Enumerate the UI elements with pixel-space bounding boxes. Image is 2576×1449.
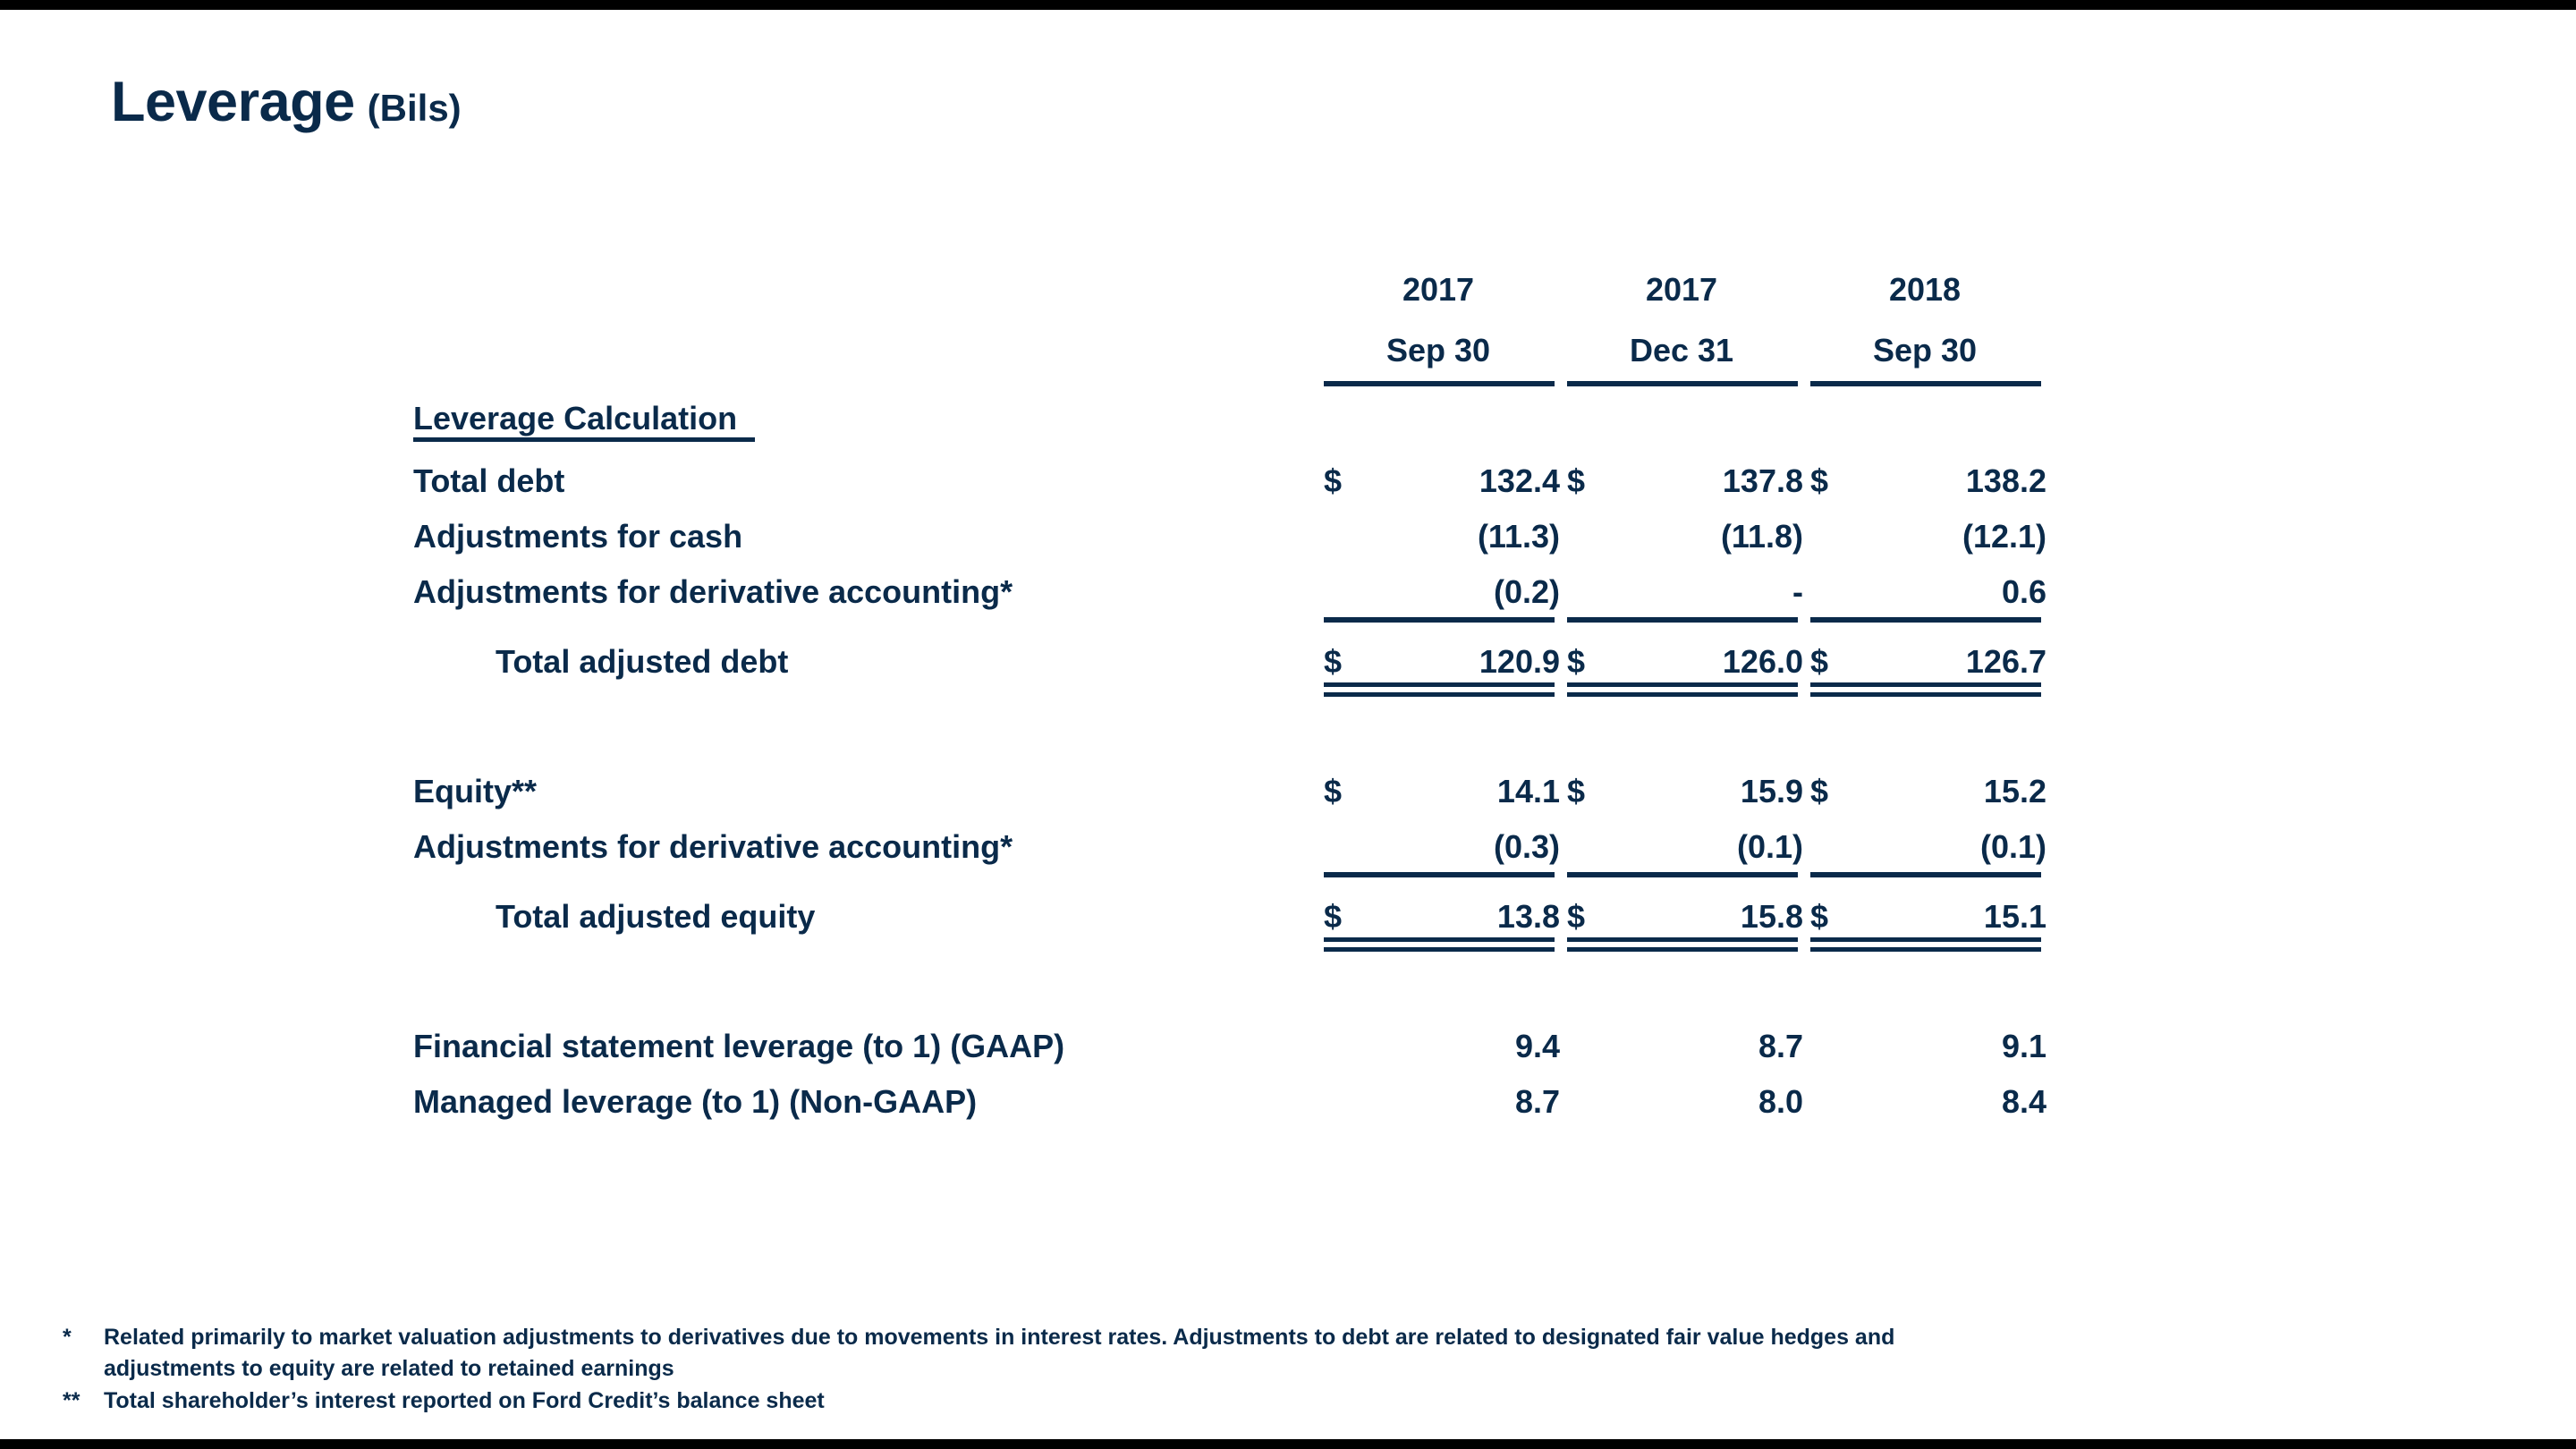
header-rule-spacer — [413, 374, 1317, 386]
cell-total-debt-c3: $138.2 — [1803, 442, 2046, 497]
cell-value: - — [1792, 576, 1803, 608]
cell-gaap-leverage-c3: 9.1 — [1803, 1007, 2046, 1063]
header-rule-3 — [1803, 374, 2046, 386]
cell-managed-leverage-c3: 8.4 — [1803, 1063, 2046, 1118]
row-label-adjustments-derivative-equity: Adjustments for derivative accounting* — [413, 808, 1317, 863]
cell-adj-cash-c1: (11.3) — [1317, 497, 1560, 553]
table-header-rule-row — [413, 374, 2046, 386]
currency-symbol: $ — [1324, 901, 1342, 933]
footnote-single-asterisk: * Related primarily to market valuation … — [63, 1322, 2513, 1354]
cell-managed-leverage-c2: 8.0 — [1560, 1063, 1803, 1118]
cell-value: 137.8 — [1723, 465, 1803, 497]
bottom-edge-bar — [0, 1439, 2576, 1449]
cell-value: 9.4 — [1515, 1030, 1560, 1063]
cell-value: 120.9 — [1479, 646, 1560, 678]
cell-gaap-leverage-c2: 8.7 — [1560, 1007, 1803, 1063]
section-heading-blank-3 — [1803, 386, 2046, 442]
cell-adj-deriv-debt-c2: - — [1560, 553, 1803, 608]
cell-adj-deriv-eq-c3: (0.1) — [1803, 808, 2046, 863]
table-row: Financial statement leverage (to 1) (GAA… — [413, 1007, 2046, 1063]
cell-managed-leverage-c1: 8.7 — [1317, 1063, 1560, 1118]
currency-symbol: $ — [1324, 465, 1342, 497]
column-header-year-3: 2018 — [1803, 250, 2046, 311]
cell-value: (11.3) — [1478, 521, 1560, 553]
table-row: Adjustments for derivative accounting* (… — [413, 553, 2046, 608]
cell-gaap-leverage-c1: 9.4 — [1317, 1007, 1560, 1063]
section-gap-2 — [413, 952, 2046, 1007]
cell-value: 138.2 — [1966, 465, 2046, 497]
row-label-financial-statement-leverage: Financial statement leverage (to 1) (GAA… — [413, 1007, 1317, 1063]
section-heading-blank-2 — [1560, 386, 1803, 442]
cell-value: 8.0 — [1758, 1086, 1803, 1118]
column-header-date-3: Sep 30 — [1803, 311, 2046, 374]
table-header-date-row: Sep 30 Dec 31 Sep 30 — [413, 311, 2046, 374]
column-header-year-1: 2017 — [1317, 250, 1560, 311]
cell-value: 14.1 — [1497, 775, 1560, 808]
footnote-text: Total shareholder’s interest reported on… — [104, 1385, 2513, 1418]
cell-equity-c2: $15.9 — [1560, 752, 1803, 808]
currency-symbol: $ — [1567, 775, 1585, 808]
currency-symbol: $ — [1324, 775, 1342, 808]
table-row: Managed leverage (to 1) (Non-GAAP) 8.7 8… — [413, 1063, 2046, 1118]
table-header-year-row: 2017 2017 2018 — [413, 250, 2046, 311]
leverage-table: 2017 2017 2018 Sep 30 Dec 31 Sep 30 — [413, 250, 2046, 1118]
section-heading-row: Leverage Calculation — [413, 386, 2046, 442]
cell-total-adj-eq-c2: $15.8 — [1560, 877, 1803, 933]
section-gap-1 — [413, 697, 2046, 752]
cell-value: 15.9 — [1741, 775, 1803, 808]
cell-value: 126.0 — [1723, 646, 1803, 678]
cell-adj-deriv-debt-c3: 0.6 — [1803, 553, 2046, 608]
cell-value: 0.6 — [2002, 576, 2046, 608]
cell-value: 8.7 — [1758, 1030, 1803, 1063]
cell-value: 15.8 — [1741, 901, 1803, 933]
footnotes-block: * Related primarily to market valuation … — [63, 1322, 2513, 1418]
subtotal-rule-eq-2 — [1560, 863, 1803, 877]
subtotal-rule-3 — [1803, 608, 2046, 623]
cell-total-adj-eq-c1: $13.8 — [1317, 877, 1560, 933]
cell-adj-cash-c3: (12.1) — [1803, 497, 2046, 553]
currency-symbol: $ — [1324, 646, 1342, 678]
double-rule-1 — [1317, 678, 1560, 697]
footnote-single-asterisk-continuation: adjustments to equity are related to ret… — [63, 1353, 2513, 1385]
subtotal-rule-row-equity — [413, 863, 2046, 877]
row-label-total-adjusted-equity: Total adjusted equity — [413, 877, 1317, 933]
cell-value: 132.4 — [1479, 465, 1560, 497]
footnote-double-asterisk: ** Total shareholder’s interest reported… — [63, 1385, 2513, 1418]
currency-symbol: $ — [1567, 646, 1585, 678]
table-row: Total debt $132.4 $137.8 $138.2 — [413, 442, 2046, 497]
table-row: Adjustments for derivative accounting* (… — [413, 808, 2046, 863]
total-double-rule-row-debt — [413, 678, 2046, 697]
row-label-total-debt: Total debt — [413, 442, 1317, 497]
subtotal-rule-1 — [1317, 608, 1560, 623]
section-heading-cell: Leverage Calculation — [413, 386, 1317, 442]
slide-canvas: Leverage(Bils) 2017 2017 2018 — [0, 0, 2576, 1449]
footnote-marker: ** — [63, 1385, 104, 1418]
top-edge-bar — [0, 0, 2576, 10]
currency-symbol: $ — [1810, 901, 1828, 933]
footnote-marker: * — [63, 1322, 104, 1354]
cell-equity-c1: $14.1 — [1317, 752, 1560, 808]
cell-total-adj-debt-c3: $126.7 — [1803, 623, 2046, 678]
currency-symbol: $ — [1567, 901, 1585, 933]
table-row-total: Total adjusted equity $13.8 $15.8 $15.1 — [413, 877, 2046, 933]
cell-total-debt-c1: $132.4 — [1317, 442, 1560, 497]
subtotal-rule-2 — [1560, 608, 1803, 623]
cell-value: 15.2 — [1984, 775, 2046, 808]
cell-adj-deriv-eq-c2: (0.1) — [1560, 808, 1803, 863]
cell-equity-c3: $15.2 — [1803, 752, 2046, 808]
page-title: Leverage(Bils) — [111, 70, 462, 134]
table-row-total: Total adjusted debt $120.9 $126.0 $126.7 — [413, 623, 2046, 678]
double-rule-eq-1 — [1317, 933, 1560, 952]
total-double-rule-row-equity — [413, 933, 2046, 952]
cell-adj-deriv-eq-c1: (0.3) — [1317, 808, 1560, 863]
currency-symbol: $ — [1567, 465, 1585, 497]
subtotal-rule-eq-3 — [1803, 863, 2046, 877]
page-title-unit: (Bils) — [368, 87, 462, 129]
double-rule-eq-2 — [1560, 933, 1803, 952]
page-title-text: Leverage — [111, 71, 355, 133]
cell-total-adj-debt-c1: $120.9 — [1317, 623, 1560, 678]
header-spacer-2 — [413, 311, 1317, 374]
subtotal-rule-eq-1 — [1317, 863, 1560, 877]
currency-symbol: $ — [1810, 775, 1828, 808]
double-rule-spacer — [413, 678, 1317, 697]
row-label-adjustments-cash: Adjustments for cash — [413, 497, 1317, 553]
cell-total-adj-debt-c2: $126.0 — [1560, 623, 1803, 678]
subtotal-rule-row-debt — [413, 608, 2046, 623]
header-spacer — [413, 250, 1317, 311]
row-label-managed-leverage: Managed leverage (to 1) (Non-GAAP) — [413, 1063, 1317, 1118]
cell-value: (12.1) — [1962, 521, 2046, 553]
cell-value: 15.1 — [1984, 901, 2046, 933]
cell-total-adj-eq-c3: $15.1 — [1803, 877, 2046, 933]
currency-symbol: $ — [1810, 465, 1828, 497]
cell-value: 9.1 — [2002, 1030, 2046, 1063]
header-rule-2 — [1560, 374, 1803, 386]
cell-value: 126.7 — [1966, 646, 2046, 678]
double-rule-spacer — [413, 933, 1317, 952]
rule-spacer — [413, 863, 1317, 877]
cell-value: (0.2) — [1494, 576, 1560, 608]
cell-adj-deriv-debt-c1: (0.2) — [1317, 553, 1560, 608]
table-row: Adjustments for cash (11.3) (11.8) (12.1… — [413, 497, 2046, 553]
section-heading-blank-1 — [1317, 386, 1560, 442]
cell-value: (0.3) — [1494, 831, 1560, 863]
cell-value: 13.8 — [1497, 901, 1560, 933]
currency-symbol: $ — [1810, 646, 1828, 678]
cell-value: 8.7 — [1515, 1086, 1560, 1118]
row-label-equity: Equity** — [413, 752, 1317, 808]
header-rule-1 — [1317, 374, 1560, 386]
leverage-table-container: 2017 2017 2018 Sep 30 Dec 31 Sep 30 — [0, 250, 2576, 1118]
column-header-year-2: 2017 — [1560, 250, 1803, 311]
column-header-date-1: Sep 30 — [1317, 311, 1560, 374]
row-label-total-adjusted-debt: Total adjusted debt — [413, 623, 1317, 678]
footnote-text: Related primarily to market valuation ad… — [104, 1322, 2513, 1354]
column-header-date-2: Dec 31 — [1560, 311, 1803, 374]
double-rule-2 — [1560, 678, 1803, 697]
cell-value: (0.1) — [1737, 831, 1803, 863]
double-rule-3 — [1803, 678, 2046, 697]
cell-adj-cash-c2: (11.8) — [1560, 497, 1803, 553]
row-label-adjustments-derivative-debt: Adjustments for derivative accounting* — [413, 553, 1317, 608]
section-heading-label: Leverage Calculation — [413, 402, 755, 442]
double-rule-eq-3 — [1803, 933, 2046, 952]
cell-value: (11.8) — [1721, 521, 1803, 553]
table-row: Equity** $14.1 $15.9 $15.2 — [413, 752, 2046, 808]
rule-spacer — [413, 608, 1317, 623]
cell-value: 8.4 — [2002, 1086, 2046, 1118]
cell-value: (0.1) — [1980, 831, 2046, 863]
cell-total-debt-c2: $137.8 — [1560, 442, 1803, 497]
